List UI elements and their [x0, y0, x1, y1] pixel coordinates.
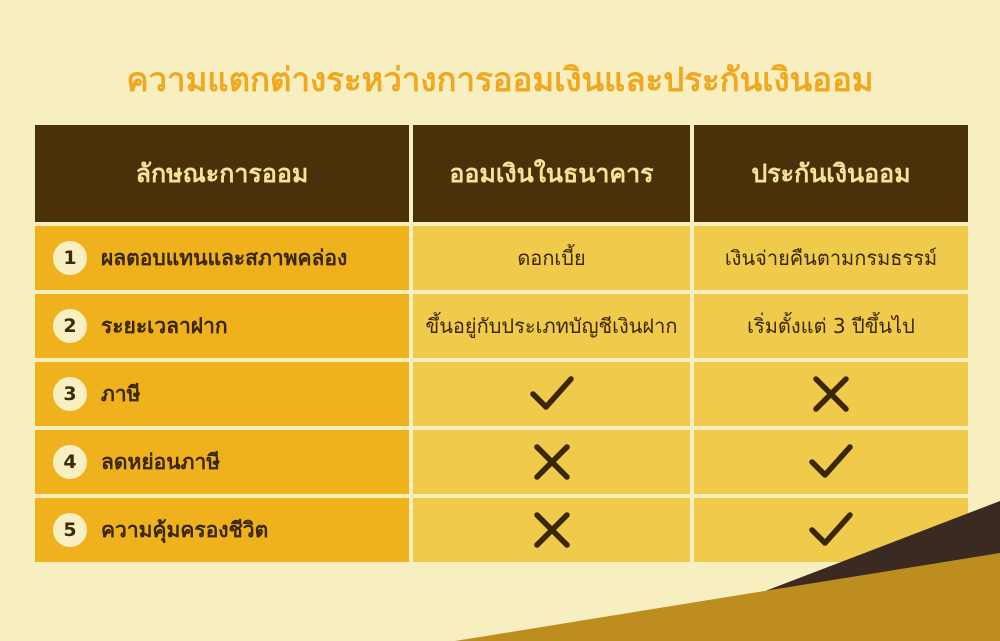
row-insurance-cell: เงินจ่ายคืนตามกรมธรรม์: [694, 226, 968, 290]
row-label: ผลตอบแทนและสภาพคล่อง: [101, 242, 347, 275]
comparison-table: ลักษณะการออม ออมเงินในธนาคาร ประกันเงินอ…: [35, 125, 968, 562]
header-label-insurance: ประกันเงินออม: [751, 154, 910, 194]
table-row: 5 ความคุ้มครองชีวิต: [35, 498, 968, 562]
row-number-badge: 2: [53, 309, 87, 343]
ribbon-gold-band: [455, 553, 1000, 641]
cross-icon: [532, 510, 572, 550]
table-row: 2 ระยะเวลาฝาก ขึ้นอยู่กับประเภทบัญชีเงิน…: [35, 294, 968, 358]
row-feature-cell: 3 ภาษี: [35, 362, 409, 426]
row-number-badge: 4: [53, 445, 87, 479]
cross-icon: [811, 374, 851, 414]
row-number-badge: 1: [53, 241, 87, 275]
insurance-value: เงินจ่ายคืนตามกรมธรรม์: [725, 242, 937, 274]
row-insurance-cell: [694, 430, 968, 494]
row-feature-cell: 5 ความคุ้มครองชีวิต: [35, 498, 409, 562]
table-header-row: ลักษณะการออม ออมเงินในธนาคาร ประกันเงินอ…: [35, 125, 968, 222]
row-number-badge: 5: [53, 513, 87, 547]
cross-icon: [532, 442, 572, 482]
row-feature-cell: 1 ผลตอบแทนและสภาพคล่อง: [35, 226, 409, 290]
check-icon: [808, 510, 854, 550]
insurance-value: เริ่มตั้งแต่ 3 ปีขึ้นไป: [747, 310, 915, 342]
row-bank-cell: ขึ้นอยู่กับประเภทบัญชีเงินฝาก: [413, 294, 690, 358]
row-number-badge: 3: [53, 377, 87, 411]
header-label-bank: ออมเงินในธนาคาร: [449, 154, 653, 194]
header-cell-feature: ลักษณะการออม: [35, 125, 409, 222]
row-label: ลดหย่อนภาษี: [101, 446, 220, 479]
check-icon: [529, 374, 575, 414]
header-cell-insurance: ประกันเงินออม: [694, 125, 968, 222]
header-label-feature: ลักษณะการออม: [136, 154, 309, 194]
row-feature-cell: 2 ระยะเวลาฝาก: [35, 294, 409, 358]
table-row: 1 ผลตอบแทนและสภาพคล่อง ดอกเบี้ย เงินจ่าย…: [35, 226, 968, 290]
row-insurance-cell: [694, 362, 968, 426]
row-feature-cell: 4 ลดหย่อนภาษี: [35, 430, 409, 494]
row-bank-cell: [413, 430, 690, 494]
page-title: ความแตกต่างระหว่างการออมเงินและประกันเงิ…: [0, 60, 1000, 100]
header-cell-bank: ออมเงินในธนาคาร: [413, 125, 690, 222]
bank-value: ขึ้นอยู่กับประเภทบัญชีเงินฝาก: [426, 310, 678, 342]
check-icon: [808, 442, 854, 482]
row-label: ความคุ้มครองชีวิต: [101, 514, 268, 547]
row-bank-cell: ดอกเบี้ย: [413, 226, 690, 290]
row-label: ระยะเวลาฝาก: [101, 310, 228, 343]
bank-value: ดอกเบี้ย: [517, 242, 585, 274]
row-insurance-cell: [694, 498, 968, 562]
infographic-page: ความแตกต่างระหว่างการออมเงินและประกันเงิ…: [0, 0, 1000, 641]
row-insurance-cell: เริ่มตั้งแต่ 3 ปีขึ้นไป: [694, 294, 968, 358]
row-label: ภาษี: [101, 378, 140, 411]
row-bank-cell: [413, 362, 690, 426]
table-row: 3 ภาษี: [35, 362, 968, 426]
row-bank-cell: [413, 498, 690, 562]
table-row: 4 ลดหย่อนภาษี: [35, 430, 968, 494]
